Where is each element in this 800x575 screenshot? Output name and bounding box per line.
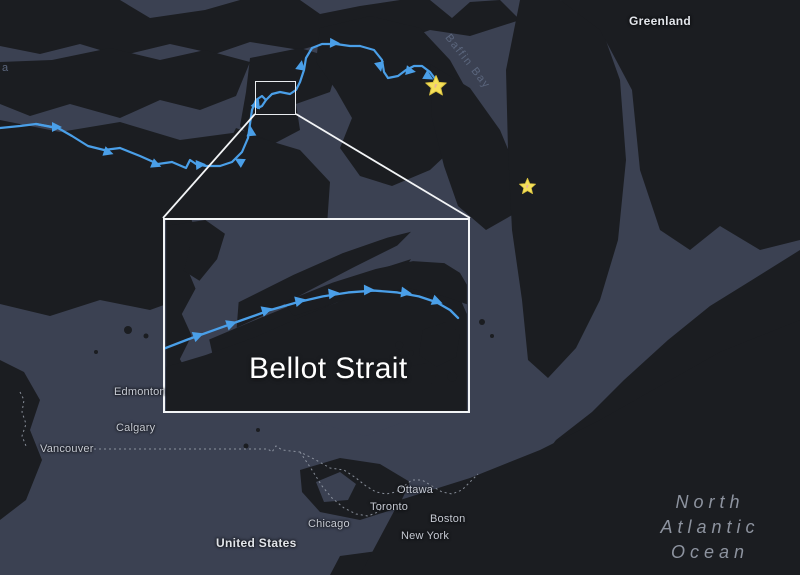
map-canvas[interactable]: Bellot Strait Greenland United States Ba…: [0, 0, 800, 575]
star-marker-south[interactable]: [518, 177, 537, 201]
zoom-source-rect[interactable]: [255, 81, 296, 115]
star-marker-north[interactable]: [424, 74, 448, 103]
star-icon: [518, 177, 537, 196]
inset-title-bellot-strait: Bellot Strait: [249, 352, 408, 386]
star-icon: [424, 74, 448, 98]
bellot-strait-inset[interactable]: Bellot Strait: [163, 218, 470, 413]
